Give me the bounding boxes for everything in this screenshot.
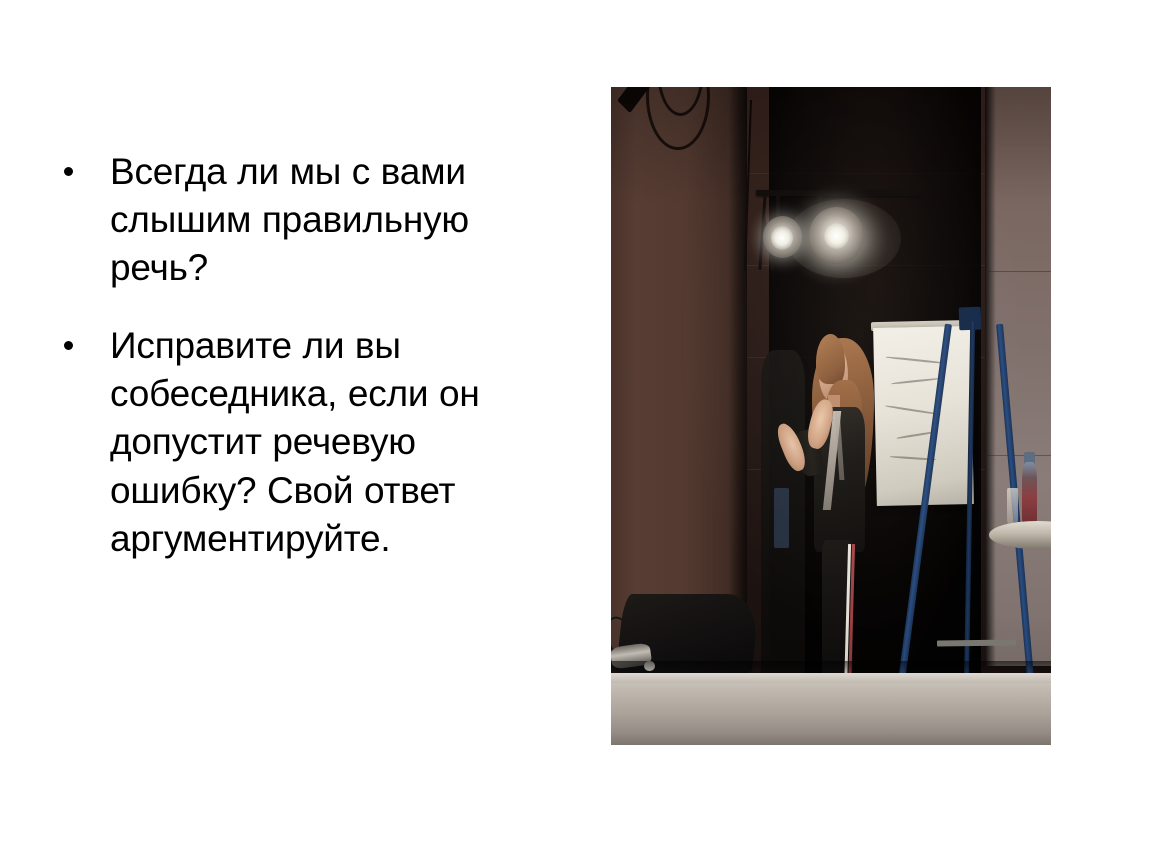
left-pillar bbox=[611, 87, 747, 653]
stage-lip bbox=[611, 673, 1051, 682]
bullet-text-1: Всегда ли мы с вами слышим правильную ре… bbox=[110, 148, 550, 292]
presenter-hair-front bbox=[816, 334, 846, 384]
slide-canvas: Всегда ли мы с вами слышим правильную ре… bbox=[0, 0, 1150, 864]
right-wall-seam bbox=[985, 455, 1051, 456]
easel-brace bbox=[937, 639, 1016, 646]
stage-floor bbox=[611, 683, 1051, 746]
list-item[interactable]: Исправите ли вы собеседника, если он доп… bbox=[55, 322, 550, 562]
bullet-dot-icon bbox=[64, 167, 73, 176]
truss-bar bbox=[756, 190, 919, 197]
presentation-photo bbox=[611, 87, 1051, 745]
bullet-text-2: Исправите ли вы собеседника, если он доп… bbox=[110, 322, 550, 562]
right-wall-shadow bbox=[985, 87, 996, 666]
pillar-ornament bbox=[617, 87, 650, 113]
spotlight-left-glow-icon bbox=[771, 226, 793, 249]
bullet-list: Всегда ли мы с вами слышим правильную ре… bbox=[55, 148, 555, 563]
pillar-shadow bbox=[728, 87, 747, 653]
spotlight-right-glow-icon bbox=[824, 223, 850, 249]
drinking-glass bbox=[1007, 488, 1018, 525]
presenter bbox=[787, 330, 901, 712]
list-item[interactable]: Всегда ли мы с вами слышим правильную ре… bbox=[55, 148, 550, 292]
right-wall-seam bbox=[985, 271, 1051, 272]
bottle bbox=[1022, 462, 1037, 525]
bullet-dot-icon bbox=[64, 341, 73, 350]
